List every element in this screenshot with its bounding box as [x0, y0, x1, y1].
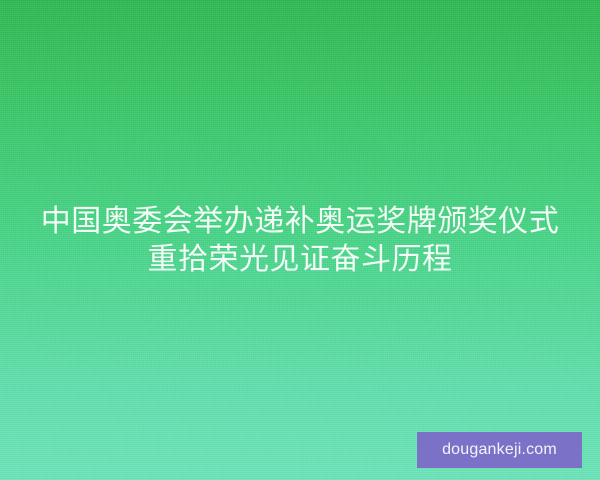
- image-canvas: 中国奥委会举办递补奥运奖牌颁奖仪式 重拾荣光见证奋斗历程 dougankeji.…: [0, 0, 600, 480]
- headline-title: 中国奥委会举办递补奥运奖牌颁奖仪式 重拾荣光见证奋斗历程: [0, 203, 600, 279]
- headline-line-2: 重拾荣光见证奋斗历程: [0, 241, 600, 279]
- watermark-badge: dougankeji.com: [417, 432, 582, 468]
- headline-line-1: 中国奥委会举办递补奥运奖牌颁奖仪式: [0, 203, 600, 241]
- watermark-label: dougankeji.com: [442, 442, 557, 458]
